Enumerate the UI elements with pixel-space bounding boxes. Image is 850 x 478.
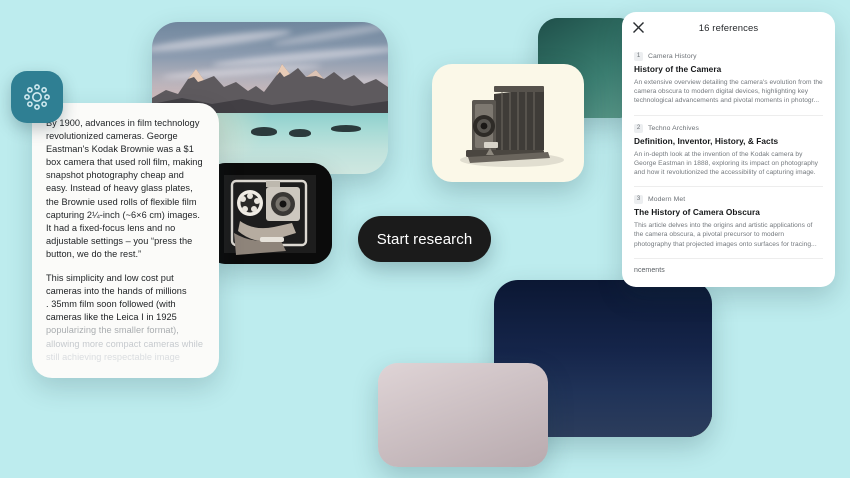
movie-camera-photo-content bbox=[206, 163, 332, 264]
reference-source: 1 Camera History bbox=[634, 52, 823, 61]
start-research-button[interactable]: Start research bbox=[358, 216, 491, 262]
references-title: 16 references bbox=[699, 23, 758, 34]
reference-item[interactable]: 3 Modern Met The History of Camera Obscu… bbox=[634, 187, 823, 259]
answer-paragraph-1: By 1900, advances in film technology rev… bbox=[46, 117, 205, 261]
answer-line: cameras like the Leica I in 1925 bbox=[46, 311, 205, 324]
references-panel: 16 references 1 Camera History History o… bbox=[622, 12, 835, 287]
gear-icon-chip[interactable] bbox=[11, 71, 63, 123]
reference-source: 2 Techno Archives bbox=[634, 124, 823, 133]
islet bbox=[331, 125, 361, 132]
reference-item[interactable]: 1 Camera History History of the Camera A… bbox=[634, 44, 823, 116]
hands-camera-photo[interactable] bbox=[378, 363, 548, 467]
islet bbox=[289, 129, 311, 137]
references-header: 16 references bbox=[622, 12, 835, 44]
reference-number-badge: 2 bbox=[634, 124, 643, 133]
islet bbox=[251, 127, 277, 136]
reference-number-badge: 1 bbox=[634, 52, 643, 61]
movie-camera-photo[interactable] bbox=[206, 163, 332, 264]
reference-description: An in-depth look at the invention of the… bbox=[634, 150, 823, 178]
reference-description: An extensive overview detailing the came… bbox=[634, 78, 823, 106]
reference-item[interactable]: 2 Techno Archives Definition, Inventor, … bbox=[634, 116, 823, 188]
reference-item[interactable]: ncements bbox=[634, 259, 823, 287]
reference-site-name: Modern Met bbox=[648, 196, 685, 203]
answer-paragraph-2: This simplicity and low cost put cameras… bbox=[46, 272, 205, 364]
reference-number-badge: 3 bbox=[634, 195, 643, 204]
answer-line: still achieving respectable image bbox=[46, 351, 205, 364]
answer-text-card: By 1900, advances in film technology rev… bbox=[32, 103, 219, 378]
answer-line: popularizing the smaller format), bbox=[46, 324, 205, 337]
answer-line: This simplicity and low cost put bbox=[46, 272, 205, 285]
answer-line: allowing more compact cameras while bbox=[46, 338, 205, 351]
references-list: 1 Camera History History of the Camera A… bbox=[622, 44, 835, 287]
gear-icon bbox=[22, 82, 52, 112]
answer-line: . 35mm film soon followed (with bbox=[46, 298, 205, 311]
reference-source: 3 Modern Met bbox=[634, 195, 823, 204]
reference-title: Definition, Inventor, History, & Facts bbox=[634, 136, 823, 146]
answer-line: cameras into the hands of millions bbox=[46, 285, 205, 298]
bellows-camera-illustration[interactable] bbox=[432, 64, 584, 182]
canvas: By 1900, advances in film technology rev… bbox=[0, 0, 850, 478]
reference-title: History of the Camera bbox=[634, 64, 823, 74]
close-icon[interactable] bbox=[632, 21, 645, 34]
reference-title: The History of Camera Obscura bbox=[634, 207, 823, 217]
reference-site-name: Camera History bbox=[648, 53, 697, 60]
reference-title: ncements bbox=[634, 267, 823, 274]
bellows-camera-drawing bbox=[432, 64, 584, 182]
reference-description: This article delves into the origins and… bbox=[634, 221, 823, 249]
blurred-background bbox=[378, 363, 548, 467]
reference-site-name: Techno Archives bbox=[648, 125, 699, 132]
